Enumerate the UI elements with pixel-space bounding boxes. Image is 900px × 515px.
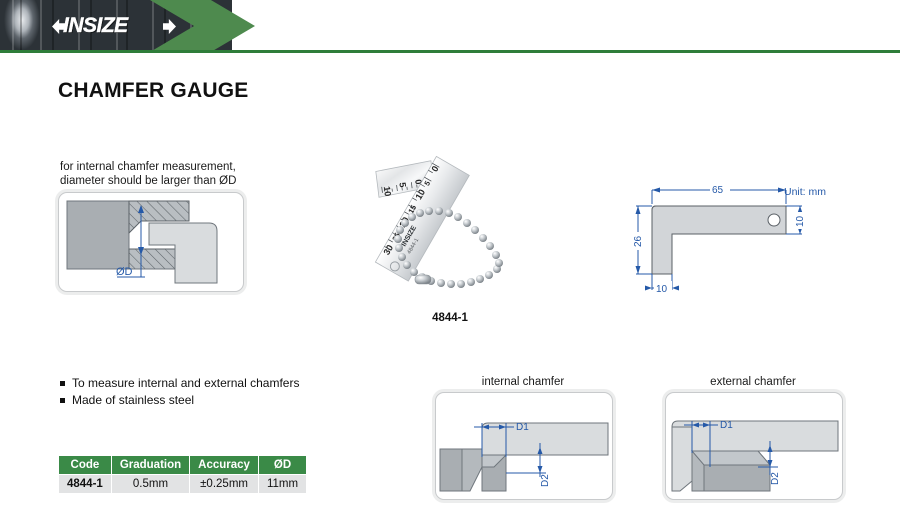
internal-chamfer-title: internal chamfer: [432, 376, 614, 388]
insize-logo: INSIZE: [52, 16, 170, 38]
list-item: Made of stainless steel: [58, 392, 299, 409]
logo-text: INSIZE: [63, 15, 128, 37]
feature-list: To measure internal and external chamfer…: [58, 375, 299, 409]
cell-od: 11mm: [258, 475, 306, 494]
external-chamfer-svg: D1 D2: [666, 393, 842, 499]
column-header-graduation: Graduation: [111, 456, 189, 475]
d1-label: D1: [720, 420, 733, 431]
dim-height-label: 26: [633, 235, 644, 247]
product-caption: 4844-1: [355, 311, 545, 325]
cell-graduation: 0.5mm: [111, 475, 189, 494]
external-chamfer-diagram: D1 D2: [665, 392, 843, 500]
column-header-od: ØD: [258, 456, 306, 475]
d2-label: D2: [540, 474, 551, 487]
dim-foot-width-label: 10: [656, 284, 668, 295]
internal-chamfer-svg: D1 D2: [436, 393, 612, 499]
page-title: CHAMFER GAUGE: [58, 78, 248, 104]
internal-measurement-note: for internal chamfer measurement, diamet…: [60, 160, 270, 188]
cell-code: 4844-1: [59, 475, 112, 494]
od-dimension-label: ØD: [116, 266, 133, 278]
table-header-row: Code Graduation Accuracy ØD: [59, 456, 307, 475]
dim-arm-thickness-label: 10: [795, 215, 806, 227]
dimension-drawing-svg: 65 26 10 10: [628, 182, 880, 298]
dim-length-label: 65: [712, 185, 724, 196]
cell-accuracy: ±0.25mm: [190, 475, 259, 494]
chamfer-gauge-photo-svg: 10 5 0 0 5 10 15 20 25 30: [355, 145, 545, 305]
external-chamfer-title: external chamfer: [662, 376, 844, 388]
table-row: 4844-1 0.5mm ±0.25mm 11mm: [59, 475, 307, 494]
dimension-drawing: 65 26 10 10: [628, 182, 880, 298]
list-item: To measure internal and external chamfer…: [58, 375, 299, 392]
internal-chamfer-diagram: D1 D2: [435, 392, 613, 500]
header-banner: INSIZE: [0, 0, 900, 52]
d2-label: D2: [770, 472, 781, 485]
column-header-code: Code: [59, 456, 112, 475]
bore-section-diagram: ØD: [58, 192, 244, 292]
header-divider-rule: [0, 50, 900, 53]
product-photo: 10 5 0 0 5 10 15 20 25 30: [355, 145, 545, 305]
d1-label: D1: [516, 422, 529, 433]
bore-section-svg: ØD: [59, 193, 243, 291]
column-header-accuracy: Accuracy: [190, 456, 259, 475]
specification-table: Code Graduation Accuracy ØD 4844-1 0.5mm…: [58, 455, 307, 494]
